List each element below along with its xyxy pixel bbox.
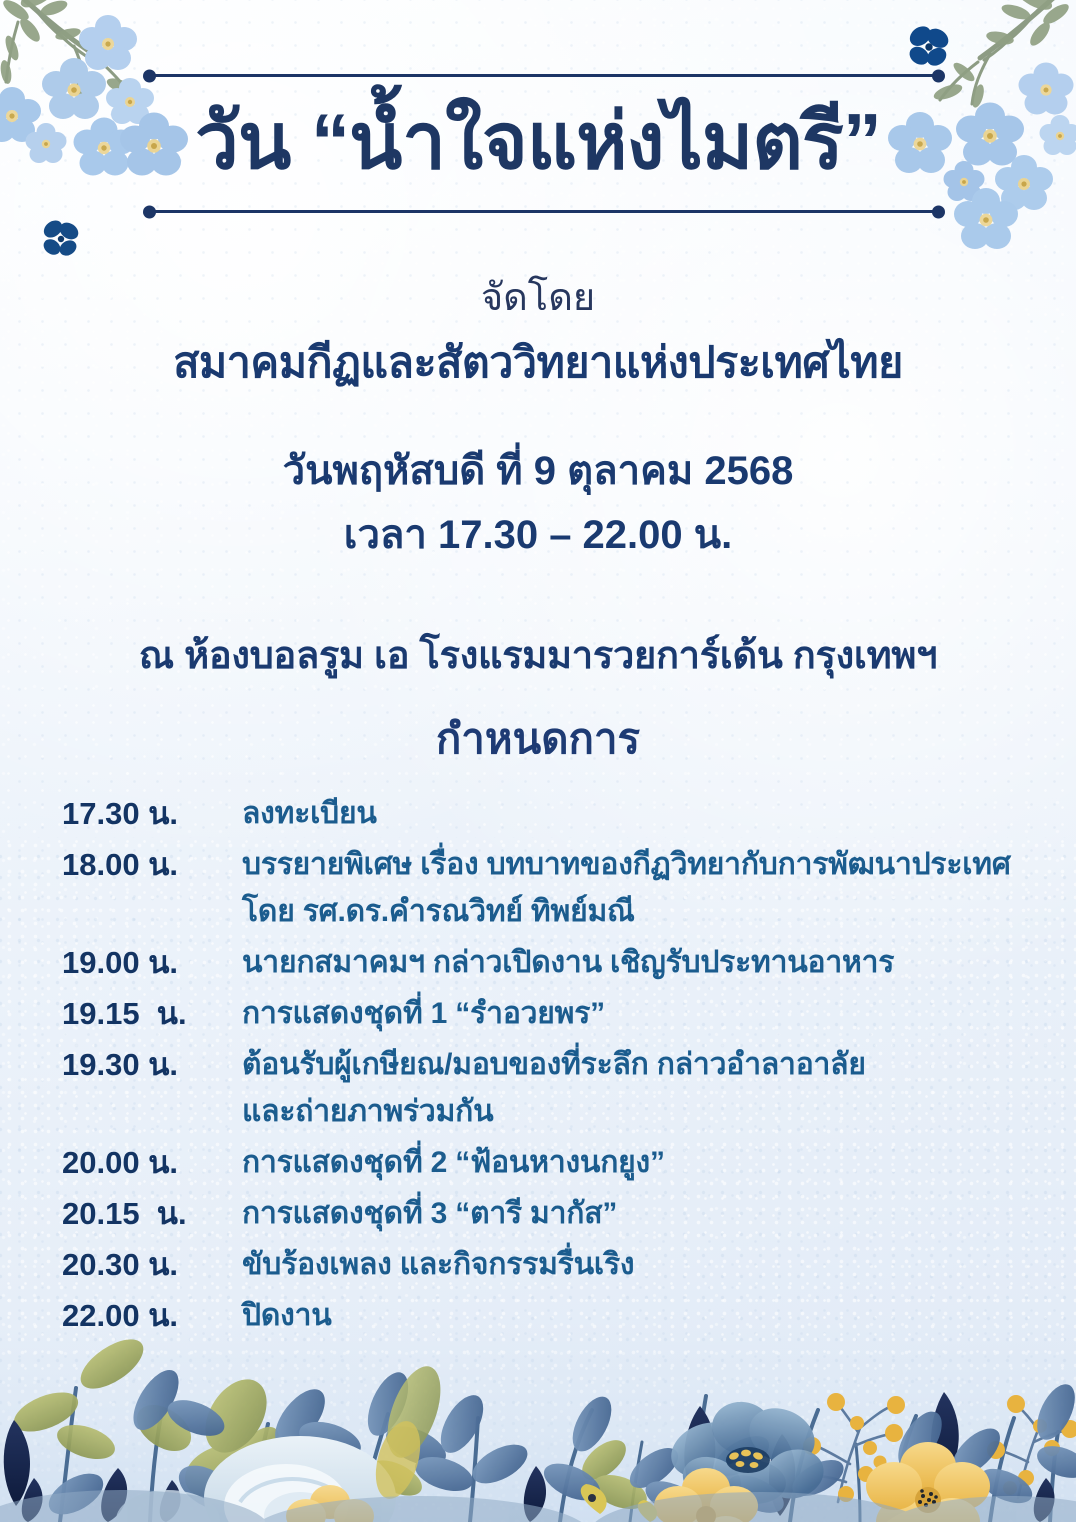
schedule-time: 17.30 น. — [62, 790, 242, 837]
schedule-time: 19.15 น. — [62, 990, 242, 1037]
schedule-description: บรรยายพิเศษ เรื่อง บทบาทของกีฏวิทยากับกา… — [242, 841, 1022, 935]
schedule-time: 18.00 น. — [62, 841, 242, 888]
schedule-description-line: ลงทะเบียน — [242, 790, 1022, 837]
schedule-description: การแสดงชุดที่ 2 “ฟ้อนหางนกยูง” — [242, 1139, 1022, 1186]
schedule-description: ขับร้องเพลง และกิจกรรมรื่นเริง — [242, 1241, 1022, 1288]
schedule-time: 19.00 น. — [62, 939, 242, 986]
event-date: วันพฤหัสบดี ที่ 9 ตุลาคม 2568 — [0, 438, 1076, 502]
schedule-row: 20.30 น.ขับร้องเพลง และกิจกรรมรื่นเริง — [62, 1241, 1022, 1288]
poster-canvas: วัน “น้ำใจแห่งไมตรี” จัดโดย สมาคมกีฏและส… — [0, 0, 1076, 1522]
schedule-description-line: การแสดงชุดที่ 2 “ฟ้อนหางนกยูง” — [242, 1139, 1022, 1186]
schedule-description-line: นายกสมาคมฯ กล่าวเปิดงาน เชิญรับประทานอาห… — [242, 939, 1022, 986]
schedule-description-line: โดย รศ.ดร.คำรณวิทย์ ทิพย์มณี — [242, 888, 1022, 935]
organized-by-label: จัดโดย — [0, 266, 1076, 327]
schedule-description-line: ต้อนรับผู้เกษียณ/มอบของที่ระลึก กล่าวอำล… — [242, 1041, 1022, 1088]
schedule-row: 18.00 น.บรรยายพิเศษ เรื่อง บทบาทของกีฏวิ… — [62, 841, 1022, 935]
schedule-row: 20.00 น.การแสดงชุดที่ 2 “ฟ้อนหางนกยูง” — [62, 1139, 1022, 1186]
schedule-description: ลงทะเบียน — [242, 790, 1022, 837]
event-time: เวลา 17.30 – 22.00 น. — [0, 502, 1076, 566]
schedule-description: การแสดงชุดที่ 1 “รำอวยพร” — [242, 990, 1022, 1037]
schedule-time: 20.15 น. — [62, 1190, 242, 1237]
schedule-time: 20.30 น. — [62, 1241, 242, 1288]
schedule-heading: กำหนดการ — [0, 706, 1076, 772]
schedule-row: 20.15 น.การแสดงชุดที่ 3 “ตารี มากัส” — [62, 1190, 1022, 1237]
schedule-list: 17.30 น.ลงทะเบียน18.00 น.บรรยายพิเศษ เรื… — [62, 790, 1022, 1343]
schedule-row: 19.00 น.นายกสมาคมฯ กล่าวเปิดงาน เชิญรับป… — [62, 939, 1022, 986]
schedule-description: นายกสมาคมฯ กล่าวเปิดงาน เชิญรับประทานอาห… — [242, 939, 1022, 986]
schedule-description-line: ปิดงาน — [242, 1292, 1022, 1339]
schedule-time: 22.00 น. — [62, 1292, 242, 1339]
title-rule-bottom — [148, 210, 940, 213]
schedule-description-line: การแสดงชุดที่ 1 “รำอวยพร” — [242, 990, 1022, 1037]
schedule-description-line: ขับร้องเพลง และกิจกรรมรื่นเริง — [242, 1241, 1022, 1288]
page-title: วัน “น้ำใจแห่งไมตรี” — [0, 74, 1076, 208]
schedule-row: 19.30 น.ต้อนรับผู้เกษียณ/มอบของที่ระลึก … — [62, 1041, 1022, 1135]
schedule-row: 22.00 น.ปิดงาน — [62, 1292, 1022, 1339]
organizer-name: สมาคมกีฏและสัตววิทยาแห่งประเทศไทย — [0, 328, 1076, 396]
schedule-row: 19.15 น.การแสดงชุดที่ 1 “รำอวยพร” — [62, 990, 1022, 1037]
event-venue: ณ ห้องบอลรูม เอ โรงแรมมารวยการ์เด้น กรุง… — [0, 624, 1076, 685]
schedule-description-line: การแสดงชุดที่ 3 “ตารี มากัส” — [242, 1190, 1022, 1237]
schedule-description-line: และถ่ายภาพร่วมกัน — [242, 1088, 1022, 1135]
schedule-description: ปิดงาน — [242, 1292, 1022, 1339]
schedule-time: 19.30 น. — [62, 1041, 242, 1088]
schedule-description-line: บรรยายพิเศษ เรื่อง บทบาทของกีฏวิทยากับกา… — [242, 841, 1022, 888]
schedule-description: ต้อนรับผู้เกษียณ/มอบของที่ระลึก กล่าวอำล… — [242, 1041, 1022, 1135]
schedule-row: 17.30 น.ลงทะเบียน — [62, 790, 1022, 837]
schedule-time: 20.00 น. — [62, 1139, 242, 1186]
schedule-description: การแสดงชุดที่ 3 “ตารี มากัส” — [242, 1190, 1022, 1237]
